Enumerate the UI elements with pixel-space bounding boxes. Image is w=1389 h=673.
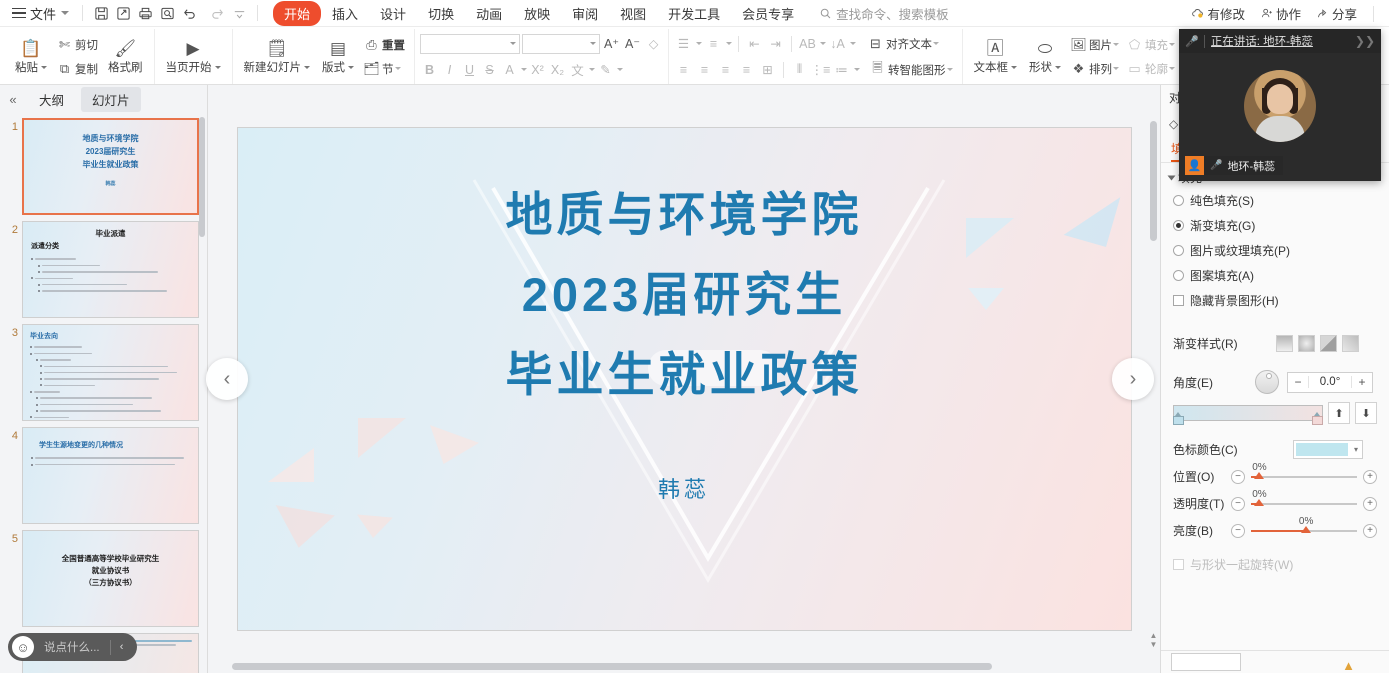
tab-member-exclusive[interactable]: 会员专享 xyxy=(731,1,805,26)
thumbnail-item[interactable]: 4 学生生源地变更的几种情况 xyxy=(0,424,207,527)
font-size-input[interactable] xyxy=(522,34,600,54)
chevron-left-icon[interactable]: ‹ xyxy=(111,641,133,653)
subscript-icon[interactable]: X₂ xyxy=(548,60,567,80)
meeting-nameplate: 👤 🎤 地环-韩蕊 xyxy=(1185,156,1283,175)
divider xyxy=(82,5,83,21)
thumb2-heading: 毕业派遣 xyxy=(23,228,198,239)
chevron-down-icon xyxy=(590,42,596,45)
fill-option-gradient-label: 渐变填充(G) xyxy=(1190,217,1255,234)
fill-option-solid[interactable]: 纯色填充(S) xyxy=(1161,188,1389,213)
meeting-speaking-header: 🎤 正在讲话: 地环-韩蕊 ❯❯ xyxy=(1179,29,1381,53)
textbox-icon: 🄰 xyxy=(987,39,1004,58)
thumbnail-list[interactable]: 1 地质与环境学院 2023届研究生 毕业生就业政策 韩蕊 2 毕业派遣 派遣分 xyxy=(0,113,207,673)
radio-icon[interactable] xyxy=(1173,195,1184,206)
decrease-font-size-icon[interactable]: A⁻ xyxy=(623,34,642,54)
gradient-style-linear[interactable] xyxy=(1276,335,1293,352)
start-from-current-label: 当页开始 xyxy=(166,62,212,74)
line-spacing-icon[interactable]: ↓A xyxy=(828,34,847,54)
reset-label: 重置 xyxy=(382,37,405,53)
layout-label: 版式 xyxy=(322,62,345,74)
radio-icon[interactable] xyxy=(1173,245,1184,256)
shape-label: 形状 xyxy=(1029,62,1052,74)
gradient-style-options xyxy=(1276,335,1359,352)
new-slide-label: 新建幻灯片 xyxy=(244,62,302,74)
print-icon[interactable] xyxy=(134,2,156,24)
hide-background-graphics-label: 隐藏背景图形(H) xyxy=(1190,292,1279,309)
thumb5-line2: 就业协议书 xyxy=(23,565,198,577)
thumbnail-scrollbar[interactable] xyxy=(198,113,206,673)
fill-icon: ⬠ xyxy=(1127,37,1142,53)
modified-status-label: 有修改 xyxy=(1207,4,1245,23)
slide-title-line3[interactable]: 毕业生就业政策 xyxy=(238,336,1131,405)
menu-bar: 文件 开始 插入 设计 切换 动画 放映 审阅 视图 开发工具 会员专享 查找命… xyxy=(0,0,1389,27)
gradient-style-row: 渐变样式(R) xyxy=(1161,331,1389,356)
scissors-icon: ✄ xyxy=(57,37,72,53)
ribbon-tabs: 开始 插入 设计 切换 动画 放映 审阅 视图 开发工具 会员专享 xyxy=(273,1,805,26)
fill-option-picture-label: 图片或纹理填充(P) xyxy=(1190,242,1290,259)
fill-option-pattern-label: 图案填充(A) xyxy=(1190,267,1254,284)
paste-label: 粘贴 xyxy=(15,62,38,74)
thumb1-line1: 地质与环境学院 xyxy=(24,132,197,145)
text-direction-icon[interactable]: AB xyxy=(798,34,817,54)
section-button[interactable]: 🗂 节 xyxy=(360,57,409,81)
play-circle-icon: ▶ xyxy=(186,39,199,58)
underline-icon[interactable]: U xyxy=(460,60,479,80)
rotate-with-shape-row[interactable]: 与形状一起旋转(W) xyxy=(1161,552,1389,577)
stop-color-row: 色标颜色(C) ▾ xyxy=(1161,436,1389,463)
microphone-icon: 🎤 xyxy=(1185,35,1199,48)
thumbnail-panel-header: « 大纲 幻灯片 xyxy=(0,85,207,113)
add-gradient-stop-icon[interactable]: ⬆ xyxy=(1328,402,1350,424)
thumb1-line2: 2023届研究生 xyxy=(24,145,197,158)
collapse-left-icon[interactable]: « xyxy=(4,92,22,107)
tab-start[interactable]: 开始 xyxy=(273,1,321,26)
radio-icon[interactable] xyxy=(1173,220,1184,231)
arrange-icon: ❖ xyxy=(1071,61,1086,77)
bold-icon[interactable]: B xyxy=(420,60,439,80)
thumb2-subheading: 派遣分类 xyxy=(31,241,190,251)
clear-formatting-icon[interactable]: ◇ xyxy=(644,34,663,54)
stop-color-label: 色标颜色(C) xyxy=(1173,441,1238,458)
gradient-stops-bar[interactable] xyxy=(1173,405,1323,421)
file-menu-button[interactable]: 文件 xyxy=(6,2,75,25)
remove-gradient-stop-icon[interactable]: ⬇ xyxy=(1355,402,1377,424)
brightness-increase-button[interactable]: + xyxy=(1363,524,1377,538)
text-effects-icon[interactable]: A xyxy=(500,60,519,80)
search-input[interactable]: 查找命令、搜索模板 xyxy=(819,4,949,23)
textbox-label: 文本框 xyxy=(974,62,1009,74)
outline-button[interactable]: ▭ 轮廓 xyxy=(1123,57,1179,81)
fill-option-picture[interactable]: 图片或纹理填充(P) xyxy=(1161,238,1389,263)
cut-label: 剪切 xyxy=(75,37,98,53)
transparency-label: 透明度(T) xyxy=(1173,495,1231,512)
layout-icon: ▤ xyxy=(330,39,346,58)
search-icon xyxy=(819,7,832,20)
meeting-video-panel[interactable]: 🎤 正在讲话: 地环-韩蕊 ❯❯ 👤 🎤 地环-韩蕊 xyxy=(1179,29,1381,181)
new-slide-icon: 🗒 xyxy=(266,39,288,58)
hamburger-icon xyxy=(12,8,26,19)
layout-button[interactable]: ▤ 版式 xyxy=(316,29,360,84)
shape-icon: ⬭ xyxy=(1038,39,1053,58)
picture-button[interactable]: 🖼 图片 xyxy=(1067,33,1123,57)
ribbon-group-slides: 🗒 新建幻灯片 ▤ 版式 ⎙ 重置 🗂 节 xyxy=(233,29,416,84)
outline-label: 轮廓 xyxy=(1145,61,1168,77)
file-menu-label: 文件 xyxy=(30,4,56,23)
tab-animation[interactable]: 动画 xyxy=(465,1,513,26)
section-label: 节 xyxy=(382,61,394,77)
textbox-button[interactable]: 🄰 文本框 xyxy=(968,29,1024,84)
align-right-icon[interactable]: ≡ xyxy=(716,60,735,80)
format-painter-icon: 🖌 xyxy=(114,39,136,58)
gradient-style-radial[interactable] xyxy=(1298,335,1315,352)
convert-to-smartart-button[interactable]: 🗏 转智能图形 xyxy=(866,58,957,82)
numbered-list-icon[interactable]: ≡ xyxy=(704,34,723,54)
format-painter-label: 格式刷 xyxy=(108,59,143,75)
fill-label: 填充 xyxy=(1145,37,1168,53)
search-placeholder: 查找命令、搜索模板 xyxy=(836,4,949,23)
transparency-increase-button[interactable]: + xyxy=(1363,497,1377,511)
divider xyxy=(1161,650,1389,651)
start-from-current-button[interactable]: ▶ 当页开始 xyxy=(160,29,227,84)
angle-decrease-button[interactable]: − xyxy=(1288,375,1308,389)
tab-transition[interactable]: 切换 xyxy=(417,1,465,26)
slide-canvas-area: ‹ › 地质与环境学院 2023届研究生 xyxy=(208,85,1160,673)
share-icon xyxy=(1316,7,1329,20)
align-text-label: 对齐文本 xyxy=(886,36,932,52)
arrange-label: 排列 xyxy=(1089,61,1112,77)
checkbox-icon[interactable] xyxy=(1173,559,1184,570)
ribbon-group-drawing: 🄰 文本框 ⬭ 形状 🖼 图片 ❖ 排列 ⬠ 填充 xyxy=(963,29,1186,84)
collaborate-button[interactable]: 协作 xyxy=(1254,2,1307,25)
new-slide-button[interactable]: 🗒 新建幻灯片 xyxy=(238,29,317,84)
list-level-icon[interactable]: ≔ xyxy=(832,60,851,80)
chevron-down-icon[interactable]: ▾ xyxy=(1350,445,1362,454)
fill-option-solid-label: 纯色填充(S) xyxy=(1190,192,1254,209)
position-decrease-button[interactable]: − xyxy=(1231,470,1245,484)
rotate-with-shape-label: 与形状一起旋转(W) xyxy=(1190,556,1293,573)
angle-dial[interactable] xyxy=(1255,370,1279,394)
chevron-down-icon xyxy=(61,11,69,15)
share-label: 分享 xyxy=(1332,4,1357,23)
transparency-slider[interactable]: 0% xyxy=(1251,503,1357,505)
microphone-icon: 🎤 xyxy=(1210,160,1222,171)
chevron-down-icon xyxy=(1168,175,1176,180)
arrange-button[interactable]: ❖ 排列 xyxy=(1067,57,1123,81)
previous-slide-button[interactable]: ‹ xyxy=(206,358,248,400)
ribbon-group-paragraph: ☰ ≡ ⇤ ⇥ AB ↓A ⊟ 对齐文本 ≡ ≡ ≡ ≡ ⊞ xyxy=(669,29,963,84)
tab-view[interactable]: 视图 xyxy=(609,1,657,26)
slide-thumbnail-5[interactable]: 全国普通高等学校毕业研究生 就业协议书 （三方协议书） xyxy=(22,530,199,627)
position-slider[interactable]: 0% xyxy=(1251,476,1357,478)
italic-icon[interactable]: I xyxy=(440,60,459,80)
color-swatch xyxy=(1296,443,1348,456)
smartart-icon: 🗏 xyxy=(870,59,885,81)
canvas-horizontal-scrollbar[interactable] xyxy=(214,662,1142,671)
slide-title-line2[interactable]: 2023届研究生 xyxy=(238,256,1131,325)
paste-icon: 📋 xyxy=(20,39,41,58)
picture-icon: 🖼 xyxy=(1071,37,1086,53)
decrease-indent-icon[interactable]: ⇤ xyxy=(745,34,764,54)
gradient-stops-row: ⬆ ⬇ xyxy=(1161,398,1389,426)
thumbnail-number: 2 xyxy=(2,221,18,236)
share-button[interactable]: 分享 xyxy=(1310,2,1363,25)
bullet-list-icon[interactable]: ☰ xyxy=(674,34,693,54)
slide-title-line1[interactable]: 地质与环境学院 xyxy=(238,176,1131,245)
tab-design[interactable]: 设计 xyxy=(369,1,417,26)
strikethrough-icon[interactable]: S xyxy=(480,60,499,80)
next-slide-button[interactable]: › xyxy=(1112,358,1154,400)
undo-icon[interactable] xyxy=(178,2,200,24)
font-name-input[interactable] xyxy=(420,34,520,54)
text-highlight-icon[interactable]: ✎ xyxy=(596,60,615,80)
divider xyxy=(257,5,258,21)
angle-row: 角度(E) − 0.0° + xyxy=(1161,366,1389,398)
tab-developer-tools[interactable]: 开发工具 xyxy=(657,1,731,26)
print-preview-icon[interactable] xyxy=(156,2,178,24)
tab-review[interactable]: 审阅 xyxy=(561,1,609,26)
superscript-icon[interactable]: X² xyxy=(528,60,547,80)
align-left-icon[interactable]: ≡ xyxy=(674,60,693,80)
angle-label: 角度(E) xyxy=(1173,374,1213,391)
align-text-button[interactable]: ⊟ 对齐文本 xyxy=(864,32,943,56)
reset-icon: ⎙ xyxy=(364,37,379,53)
copy-label: 复制 xyxy=(75,61,98,77)
meeting-video-body[interactable]: 👤 🎤 地环-韩蕊 xyxy=(1179,53,1381,181)
thumbnail-item[interactable]: 2 毕业派遣 派遣分类 xyxy=(0,218,207,321)
tab-outline[interactable]: 大纲 xyxy=(28,87,75,112)
save-as-icon[interactable] xyxy=(112,2,134,24)
brightness-label: 亮度(B) xyxy=(1173,522,1231,539)
position-slider-row: 位置(O) − 0% + xyxy=(1161,463,1389,490)
gradient-style-rectangular[interactable] xyxy=(1320,335,1337,352)
thumbnail-number: 4 xyxy=(2,427,18,442)
thumbnail-item[interactable]: 1 地质与环境学院 2023届研究生 毕业生就业政策 韩蕊 xyxy=(0,115,207,218)
comment-input[interactable]: 说点什么... xyxy=(34,639,110,655)
tab-slides[interactable]: 幻灯片 xyxy=(81,87,141,112)
reset-button[interactable]: ⎙ 重置 xyxy=(360,33,409,57)
slide-thumbnail-1[interactable]: 地质与环境学院 2023届研究生 毕业生就业政策 韩蕊 xyxy=(22,118,199,215)
slide-thumbnail-panel: « 大纲 幻灯片 1 地质与环境学院 2023届研究生 毕业生就业政策 韩蕊 xyxy=(0,85,208,673)
thumbnail-number: 1 xyxy=(2,118,18,133)
align-center-icon[interactable]: ≡ xyxy=(695,60,714,80)
slide-thumbnail-4[interactable]: 学生生源地变更的几种情况 xyxy=(22,427,199,524)
bottom-field[interactable] xyxy=(1171,653,1241,671)
copy-icon: ⧉ xyxy=(57,61,72,77)
angle-spinner[interactable]: − 0.0° + xyxy=(1287,372,1373,393)
meeting-participant-name: 地环-韩蕊 xyxy=(1227,158,1275,174)
brightness-slider-row: 亮度(B) − 0% + xyxy=(1161,517,1389,544)
transparency-decrease-button[interactable]: − xyxy=(1231,497,1245,511)
thumb1-line3: 毕业生就业政策 xyxy=(24,158,197,171)
copy-button[interactable]: ⧉ 复制 xyxy=(53,57,102,81)
double-chevron-right-icon[interactable]: ❯❯ xyxy=(1355,34,1375,48)
collaborate-label: 协作 xyxy=(1276,4,1301,23)
picture-label: 图片 xyxy=(1089,37,1112,53)
redo-icon[interactable] xyxy=(206,2,228,24)
cut-button[interactable]: ✄ 剪切 xyxy=(53,33,102,57)
thumbnail-number: 5 xyxy=(2,530,18,545)
thumb1-author: 韩蕊 xyxy=(24,178,197,191)
participant-icon: 👤 xyxy=(1185,156,1204,175)
tab-insert[interactable]: 插入 xyxy=(321,1,369,26)
customize-quick-access-icon[interactable] xyxy=(228,2,250,24)
thumbnail-item[interactable]: 5 全国普通高等学校毕业研究生 就业协议书 （三方协议书） xyxy=(0,527,207,630)
angle-increase-button[interactable]: + xyxy=(1352,375,1372,389)
gradient-stop-left[interactable] xyxy=(1173,416,1184,429)
thumb5-line3: （三方协议书） xyxy=(23,577,198,589)
shape-button[interactable]: ⬭ 形状 xyxy=(1023,29,1067,84)
scroll-arrows[interactable]: ▲▼ xyxy=(1149,631,1158,649)
modified-status-button[interactable]: 有修改 xyxy=(1185,2,1251,25)
position-label: 位置(O) xyxy=(1173,468,1231,485)
thumb3-heading: 毕业去向 xyxy=(30,331,191,341)
stop-color-picker[interactable]: ▾ xyxy=(1293,440,1363,459)
fill-option-gradient[interactable]: 渐变填充(G) xyxy=(1161,213,1389,238)
gradient-style-path[interactable] xyxy=(1342,335,1359,352)
phonetic-guide-icon[interactable]: 文 xyxy=(568,60,587,80)
brightness-slider[interactable]: 0% xyxy=(1251,530,1357,532)
triangle-decoration xyxy=(355,514,393,539)
format-painter-button[interactable]: 🖌 格式刷 xyxy=(102,29,149,84)
align-text-icon: ⊟ xyxy=(868,36,883,52)
outline-icon: ▭ xyxy=(1127,61,1142,77)
gradient-style-label: 渐变样式(R) xyxy=(1173,335,1238,352)
menubar-right-actions: 有修改 协作 分享 xyxy=(1185,0,1381,27)
ribbon-group-present: ▶ 当页开始 xyxy=(155,29,233,84)
thumb5-line1: 全国普通高等学校毕业研究生 xyxy=(23,553,198,565)
thumbnail-number: 3 xyxy=(2,324,18,339)
fill-button[interactable]: ⬠ 填充 xyxy=(1123,33,1179,57)
ribbon-group-clipboard: 📋 粘贴 ✄ 剪切 ⧉ 复制 🖌 格式刷 xyxy=(4,29,155,84)
comment-bar[interactable]: ☺ 说点什么... ‹ xyxy=(8,633,137,661)
slide-thumbnail-3[interactable]: 毕业去向 xyxy=(22,324,199,421)
paste-button[interactable]: 📋 粘贴 xyxy=(9,29,53,84)
convert-to-smartart-label: 转智能图形 xyxy=(888,62,946,78)
distribute-icon[interactable]: ⊞ xyxy=(758,60,777,80)
increase-indent-icon[interactable]: ⇥ xyxy=(766,34,785,54)
multilevel-list-icon[interactable]: ⋮≡ xyxy=(811,60,830,80)
columns-icon[interactable]: ⫴ xyxy=(790,60,809,80)
fill-option-pattern[interactable]: 图案填充(A) xyxy=(1161,263,1389,288)
collaborate-icon xyxy=(1260,7,1273,20)
hide-background-graphics-row[interactable]: 隐藏背景图形(H) xyxy=(1161,288,1389,313)
tab-slideshow[interactable]: 放映 xyxy=(513,1,561,26)
shape-preview-icon[interactable]: ◇ xyxy=(1169,117,1178,131)
warning-icon: ▲ xyxy=(1342,658,1355,673)
smiley-icon[interactable]: ☺ xyxy=(12,636,34,658)
triangle-decoration xyxy=(358,418,406,458)
save-icon[interactable] xyxy=(90,2,112,24)
divider xyxy=(1373,6,1374,22)
user-avatar-icon xyxy=(1244,70,1316,142)
thumbnail-item[interactable]: 3 毕业去向 xyxy=(0,321,207,424)
slide-canvas[interactable]: 地质与环境学院 2023届研究生 毕业生就业政策 韩蕊 xyxy=(238,128,1131,630)
gradient-stop-right[interactable] xyxy=(1312,416,1323,429)
justify-icon[interactable]: ≡ xyxy=(737,60,756,80)
slide-author[interactable]: 韩蕊 xyxy=(238,472,1131,504)
transparency-slider-row: 透明度(T) − 0% + xyxy=(1161,490,1389,517)
section-icon: 🗂 xyxy=(364,61,379,77)
thumb4-heading: 学生生源地变更的几种情况 xyxy=(31,440,190,450)
cloud-modified-icon xyxy=(1191,7,1204,20)
brightness-decrease-button[interactable]: − xyxy=(1231,524,1245,538)
slide-thumbnail-2[interactable]: 毕业派遣 派遣分类 xyxy=(22,221,199,318)
checkbox-icon[interactable] xyxy=(1173,295,1184,306)
angle-value[interactable]: 0.0° xyxy=(1308,376,1352,388)
increase-font-size-icon[interactable]: A⁺ xyxy=(602,34,621,54)
meeting-speaking-text: 正在讲话: 地环-韩蕊 xyxy=(1211,33,1313,49)
chevron-down-icon xyxy=(510,42,516,45)
position-increase-button[interactable]: + xyxy=(1363,470,1377,484)
radio-icon[interactable] xyxy=(1173,270,1184,281)
ribbon-group-font: A⁺ A⁻ ◇ B I U S A X² X₂ 文 ✎ xyxy=(415,29,669,84)
